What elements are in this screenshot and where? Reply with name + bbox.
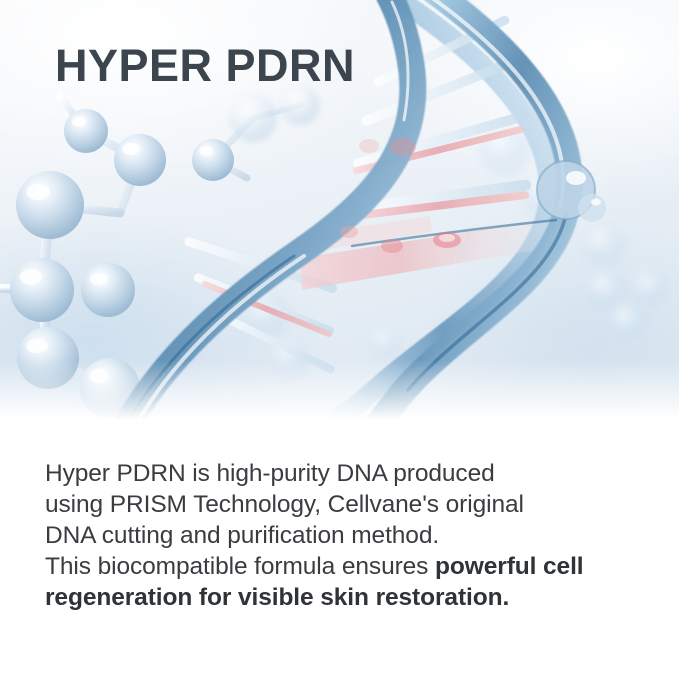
page-title: HYPER PDRN: [55, 42, 355, 89]
hero-banner-image: HYPER PDRN: [0, 0, 679, 420]
description-line-5-bold: regeneration for visible skin restoratio…: [45, 584, 509, 611]
description-line-5: regeneration for visible skin restoratio…: [45, 582, 645, 613]
description-line-2: using PRISM Technology, Cellvane's origi…: [45, 489, 645, 520]
description-line-4-regular: This biocompatible formula ensures: [45, 553, 435, 580]
description-line-4: This biocompatible formula ensures power…: [45, 551, 645, 582]
product-description: Hyper PDRN is high-purity DNA produced u…: [45, 458, 645, 613]
description-line-1: Hyper PDRN is high-purity DNA produced: [45, 458, 645, 489]
product-infographic-page: HYPER PDRN Hyper PDRN is high-purity DNA…: [0, 0, 679, 679]
description-line-3: DNA cutting and purification method.: [45, 520, 645, 551]
hero-bottom-fade: [0, 360, 679, 420]
description-line-4-bold: powerful cell: [435, 553, 583, 580]
